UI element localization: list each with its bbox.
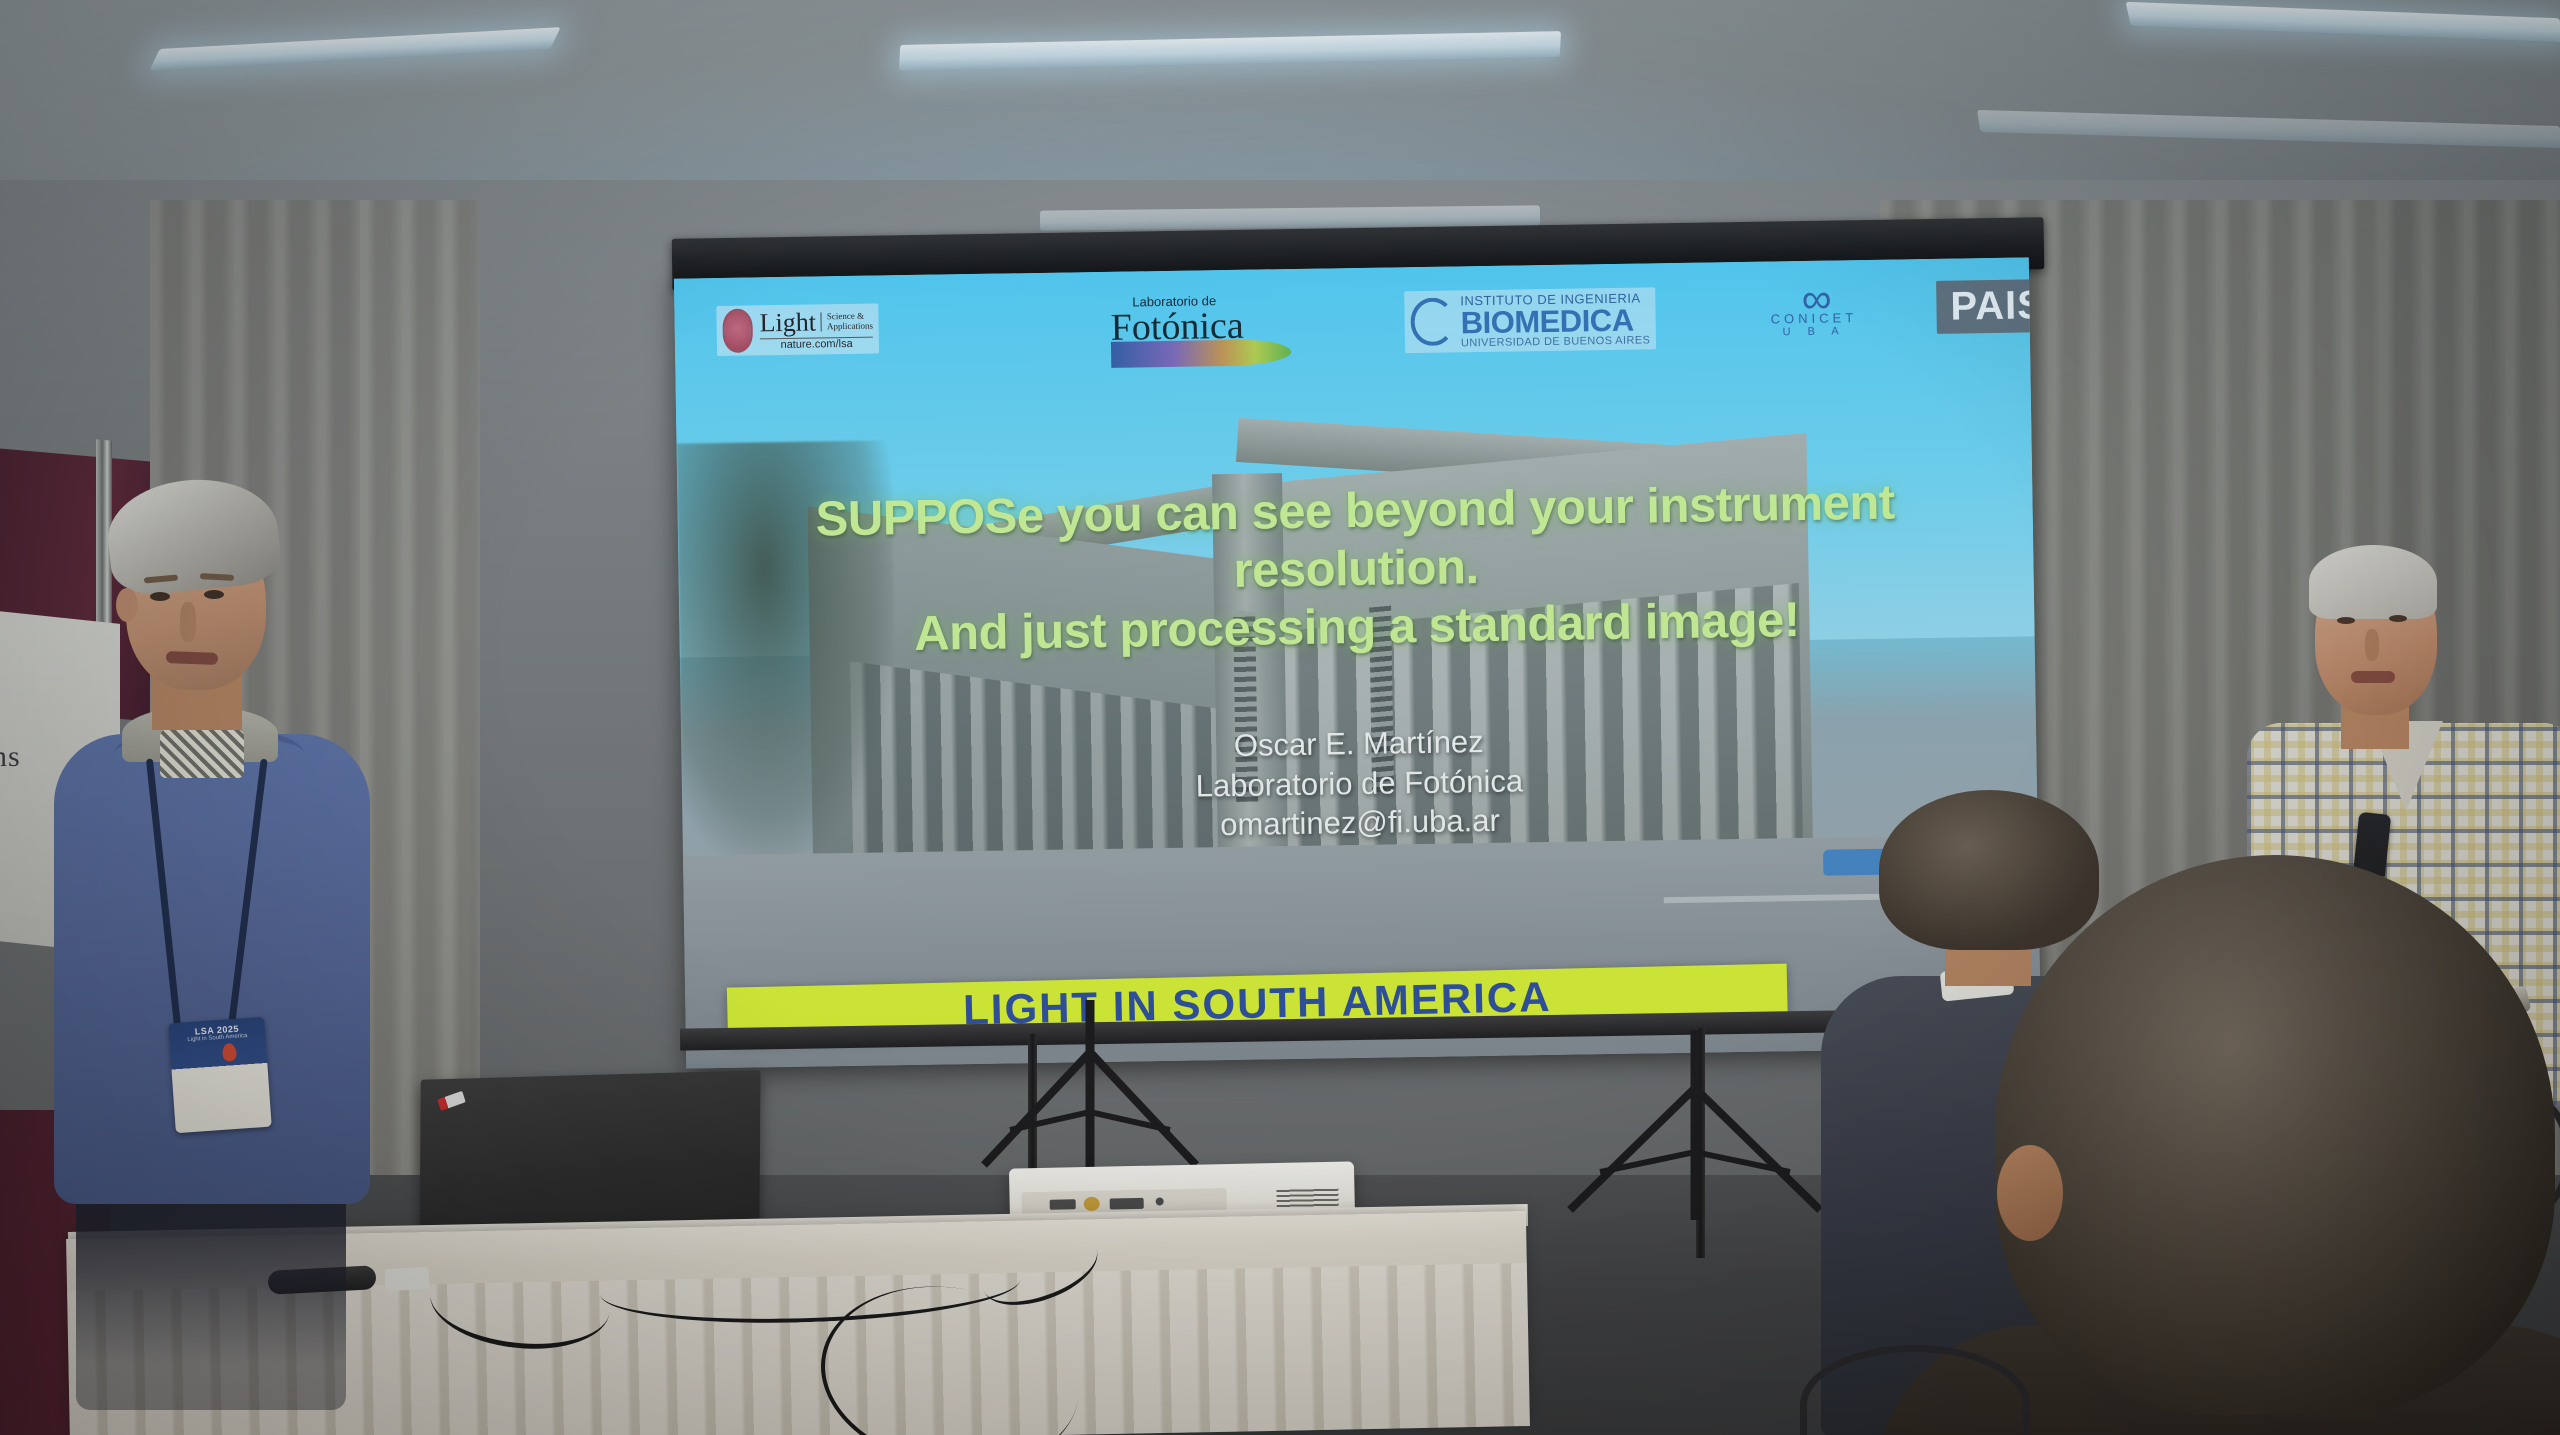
laptop-logo-sticker-icon	[437, 1091, 465, 1111]
lsa-crest-icon	[722, 308, 753, 352]
mic-man-nose	[2365, 629, 2379, 661]
speaker-trousers	[76, 1180, 346, 1410]
badge-org	[171, 1058, 267, 1065]
projector-vga-port-icon	[1110, 1198, 1144, 1210]
speaker-left: LSA 2025 Light in South America	[40, 480, 400, 1310]
audience-front-head	[1995, 855, 2555, 1415]
presentation-photo: ns	[0, 0, 2560, 1435]
speaker-eye-right	[204, 590, 224, 599]
audience-front-ear	[1997, 1145, 2063, 1241]
lsa-sub-2: Applications	[827, 320, 873, 331]
pais-wordmark: PAIS	[1950, 283, 2041, 329]
mic-man-eye-right	[2389, 615, 2407, 622]
conicet-infinity-icon: ∞	[1801, 286, 1825, 312]
audience-front	[1995, 855, 2560, 1435]
biomedica-c-icon	[1410, 298, 1455, 347]
conicet-line-2: U B A	[1782, 325, 1845, 338]
mic-man-eye-left	[2337, 617, 2355, 624]
speaker-ear	[116, 588, 138, 622]
lsa-url: nature.com/lsa	[760, 336, 874, 351]
lsa-wordmark: Light	[759, 309, 816, 336]
speaker-blue-sweater	[54, 734, 370, 1204]
projector-hdmi-port-icon	[1050, 1199, 1076, 1210]
slide-headline: SUPPOSe you can see beyond your instrume…	[677, 472, 2035, 667]
conference-badge: LSA 2025 Light in South America	[168, 1017, 271, 1133]
light-science-applications-logo: Light Science & Applications nature.com/…	[716, 303, 879, 356]
speaker-eye-left	[150, 592, 170, 601]
laboratorio-de-fotonica-logo: Laboratorio de Fotónica	[1104, 289, 1297, 371]
conicet-line-1: CONICET	[1771, 310, 1858, 326]
mic-man-hair	[2309, 545, 2437, 619]
speaker-mouth	[166, 651, 218, 665]
poster-partial-text: ns	[0, 740, 21, 774]
speaker-shirt	[160, 730, 244, 778]
biomedica-line-2: BIOMEDICA	[1460, 305, 1650, 337]
fotonica-swoosh-icon	[1111, 339, 1291, 368]
speaker-hair	[103, 471, 284, 598]
pais-logo: PAIS	[1936, 279, 2041, 334]
tripod-left-icon	[940, 1000, 1240, 1180]
conicet-uba-logo: ∞ CONICET U B A	[1764, 282, 1863, 342]
badge-pin-icon	[222, 1043, 237, 1062]
mic-man-mouth	[2351, 671, 2395, 683]
badge-name	[171, 1058, 267, 1065]
biomedica-line-3: UNIVERSIDAD DE BUENOS AIRES	[1461, 335, 1650, 350]
instituto-ingenieria-biomedica-logo: INSTITUTO DE INGENIERIA BIOMEDICA UNIVER…	[1404, 287, 1656, 353]
speaker-nose	[180, 602, 196, 642]
